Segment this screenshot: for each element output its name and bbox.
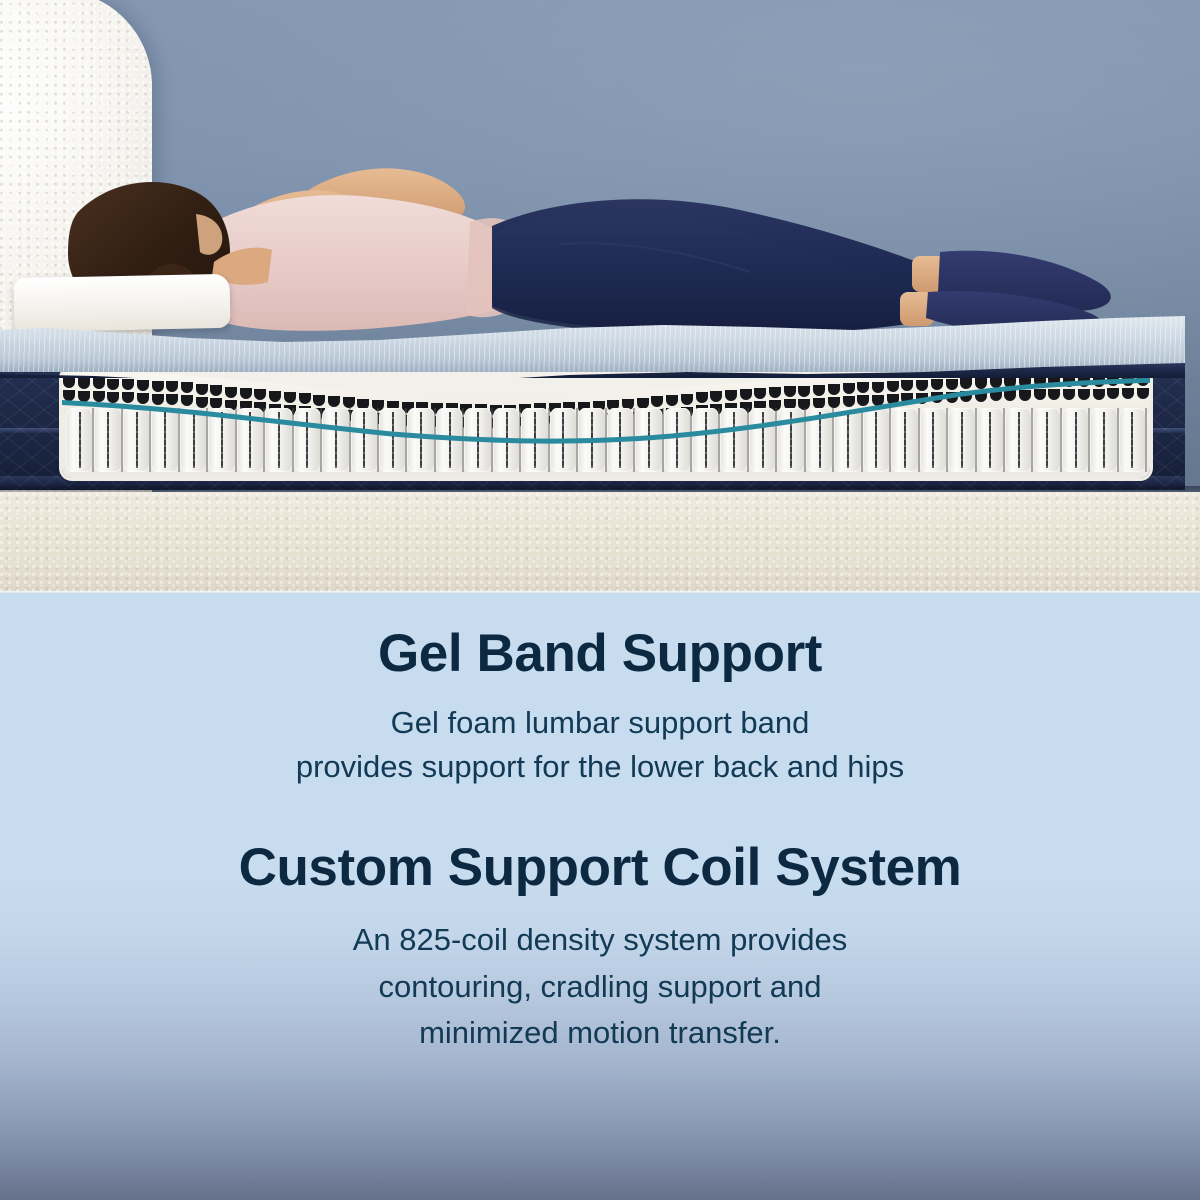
pocketed-coil — [1062, 408, 1089, 472]
feature-block-coil-system: Custom Support Coil System An 825-coil d… — [0, 840, 1200, 1057]
product-feature-card: Gel Band Support Gel foam lumbar support… — [0, 0, 1200, 1200]
pocketed-coil — [493, 408, 520, 472]
pocketed-coil — [777, 408, 804, 472]
microcoil — [990, 390, 1002, 401]
microcoil — [960, 391, 972, 402]
pocketed-coil — [322, 408, 349, 472]
pocketed-coil — [294, 408, 321, 472]
coil-system-heading: Custom Support Coil System — [0, 840, 1200, 895]
pocketed-coil — [351, 408, 378, 472]
microcoil — [1122, 388, 1134, 399]
pocketed-coil — [720, 408, 747, 472]
coil-system-body: An 825-coil density system provides cont… — [0, 917, 1200, 1057]
pocketed-coil — [151, 408, 178, 472]
gel-band-body: Gel foam lumbar support band provides su… — [0, 701, 1200, 789]
pocketed-coil — [521, 408, 548, 472]
pocketed-coil — [607, 408, 634, 472]
microcoil — [181, 395, 193, 406]
microcoil — [122, 392, 134, 403]
pocketed-coil — [920, 408, 947, 472]
pocketed-coil — [379, 408, 406, 472]
feature-block-gel-band: Gel Band Support Gel foam lumbar support… — [0, 626, 1200, 789]
pocketed-coil — [1119, 408, 1146, 472]
pocketed-coil — [1005, 408, 1032, 472]
microcoil — [1137, 388, 1149, 399]
microcoil — [63, 390, 75, 401]
microcoil — [78, 391, 90, 402]
microcoil — [1019, 390, 1031, 401]
foundation-base — [0, 492, 1200, 593]
pocketed-coil — [749, 408, 776, 472]
microcoil — [1107, 388, 1119, 399]
microcoil — [1093, 389, 1105, 400]
microcoil — [857, 395, 869, 406]
microcoil — [137, 393, 149, 404]
coil-system-body-line-3: minimized motion transfer. — [0, 1010, 1200, 1057]
microcoil — [916, 393, 928, 404]
gel-band-body-line-1: Gel foam lumbar support band — [0, 701, 1200, 745]
mattress-cutaway — [62, 368, 1150, 478]
pocketed-coil-strip — [66, 408, 1146, 472]
gel-band-body-line-2: provides support for the lower back and … — [0, 745, 1200, 789]
pocketed-coil — [94, 408, 121, 472]
microcoil — [1078, 389, 1090, 400]
gel-band-heading: Gel Band Support — [0, 626, 1200, 681]
pocketed-coil — [464, 408, 491, 472]
microcoil — [196, 397, 208, 408]
microcoil — [1048, 389, 1060, 400]
pocketed-coil — [891, 408, 918, 472]
microcoil — [1063, 389, 1075, 400]
pocketed-coil — [664, 408, 691, 472]
pocketed-coil — [635, 408, 662, 472]
pocketed-coil — [66, 408, 93, 472]
product-photo — [0, 0, 1200, 593]
microcoil — [828, 397, 840, 408]
microcoil — [901, 393, 913, 404]
microcoil — [93, 391, 105, 402]
mattress — [0, 316, 1185, 496]
microcoil — [931, 392, 943, 403]
pocketed-coil — [265, 408, 292, 472]
pocketed-coil — [578, 408, 605, 472]
microcoil — [1034, 389, 1046, 400]
pocketed-coil — [948, 408, 975, 472]
pocketed-coil — [550, 408, 577, 472]
feature-text-panel: Gel Band Support Gel foam lumbar support… — [0, 593, 1200, 1200]
microcoil — [975, 391, 987, 402]
pocketed-coil — [834, 408, 861, 472]
coil-system-body-line-2: contouring, cradling support and — [0, 964, 1200, 1011]
pocketed-coil — [692, 408, 719, 472]
microcoil — [946, 392, 958, 403]
pocketed-coil — [436, 408, 463, 472]
pocketed-coil — [237, 408, 264, 472]
pocketed-coil — [863, 408, 890, 472]
pocketed-coil — [1090, 408, 1117, 472]
microcoil — [107, 392, 119, 403]
microcoil — [166, 394, 178, 405]
pocketed-coil — [806, 408, 833, 472]
pocketed-coil — [208, 408, 235, 472]
microcoil — [152, 394, 164, 405]
mattress-pillowtop — [0, 316, 1185, 372]
pocketed-coil — [180, 408, 207, 472]
microcoil — [887, 394, 899, 405]
pocketed-coil — [123, 408, 150, 472]
microcoil — [872, 395, 884, 406]
pocketed-coil — [407, 408, 434, 472]
pocketed-coil — [977, 408, 1004, 472]
pocketed-coil — [1033, 408, 1060, 472]
microcoil — [1004, 390, 1016, 401]
microcoil — [843, 396, 855, 407]
coil-system-body-line-1: An 825-coil density system provides — [0, 917, 1200, 964]
